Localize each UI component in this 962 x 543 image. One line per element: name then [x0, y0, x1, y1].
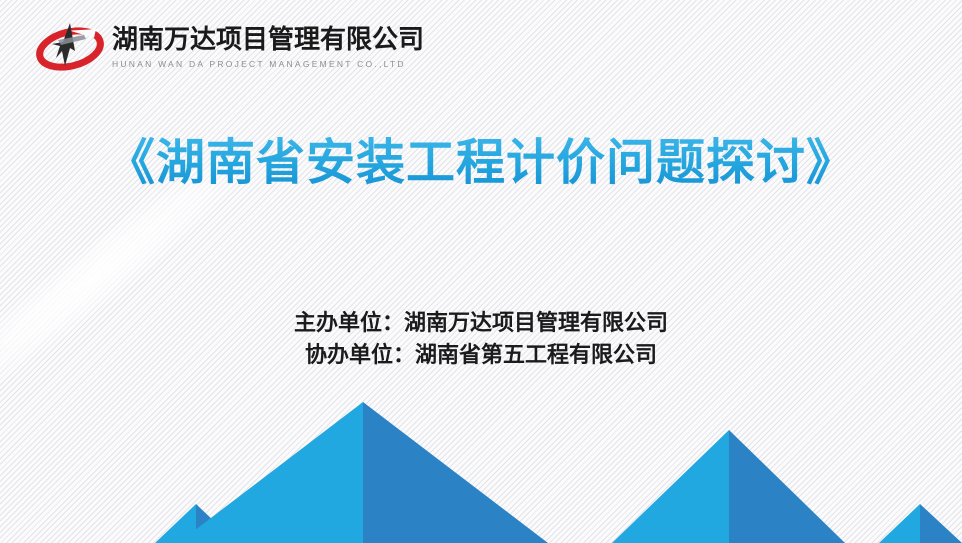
host-organization-line: 主办单位：湖南万达项目管理有限公司 — [0, 308, 962, 340]
logo-company-name-cn: 湖南万达项目管理有限公司 — [112, 27, 424, 54]
mountain-peak-far-right-light — [879, 504, 920, 543]
co-host-organization-line: 协办单位：湖南省第五工程有限公司 — [0, 340, 962, 372]
blue-mountain-range — [0, 368, 962, 543]
organizer-info-block: 主办单位：湖南万达项目管理有限公司 协办单位：湖南省第五工程有限公司 — [0, 308, 962, 372]
mountain-peak-far-right-dark — [920, 504, 962, 543]
company-logo: 湖南万达项目管理有限公司 HUNAN WAN DA PROJECT MANAGE… — [34, 18, 424, 76]
logo-text-block: 湖南万达项目管理有限公司 HUNAN WAN DA PROJECT MANAGE… — [112, 25, 424, 68]
mountain-peak-main-right-dark — [729, 430, 845, 543]
logo-company-name-en: HUNAN WAN DA PROJECT MANAGEMENT CO.,LTD — [112, 59, 424, 69]
slide-title: 《湖南省安装工程计价问题探讨》 — [0, 134, 962, 193]
wanda-swoosh-star-logo-icon — [34, 18, 106, 76]
presentation-slide: 湖南万达项目管理有限公司 HUNAN WAN DA PROJECT MANAGE… — [0, 0, 962, 543]
